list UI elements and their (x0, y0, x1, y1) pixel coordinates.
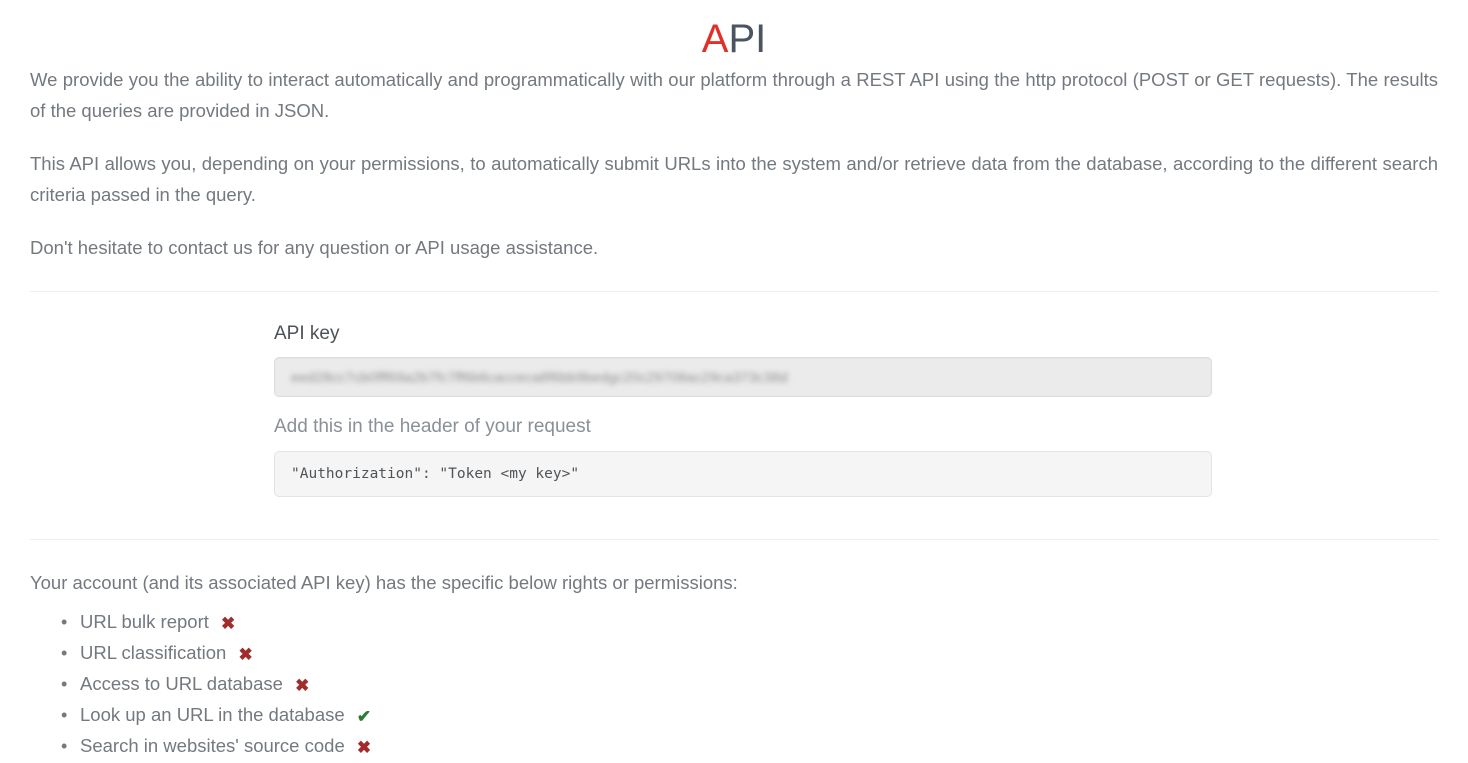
cross-icon: ✖ (238, 640, 252, 670)
permission-label: Access to URL database (80, 673, 283, 694)
bullet-icon: • (61, 700, 67, 730)
page-title: API (0, 0, 1468, 64)
section-divider-bottom (30, 539, 1438, 540)
api-key-section: API key eed28cc7cb0fff69a2b7fc7ff6b6cacc… (0, 292, 1468, 497)
permission-label: Search in websites' source code (80, 735, 345, 756)
authorization-header-code: "Authorization": "Token <my key>" (291, 466, 579, 482)
authorization-header-code-block[interactable]: "Authorization": "Token <my key>" (274, 451, 1212, 497)
permissions-list: • URL bulk report ✖ • URL classification… (30, 607, 1438, 762)
page-title-rest: PI (728, 17, 766, 61)
list-item: • URL bulk report ✖ (80, 607, 1438, 638)
bullet-icon: • (61, 607, 67, 637)
intro-paragraph-1: We provide you the ability to interact a… (30, 64, 1438, 126)
intro-section: We provide you the ability to interact a… (0, 64, 1468, 263)
intro-paragraph-3: Don't hesitate to contact us for any que… (30, 232, 1438, 263)
list-item: • URL classification ✖ (80, 638, 1438, 669)
bullet-icon: • (61, 638, 67, 668)
list-item: • Look up an URL in the database ✔ (80, 700, 1438, 731)
permission-label: Look up an URL in the database (80, 704, 345, 725)
cross-icon: ✖ (295, 671, 309, 701)
api-page: API We provide you the ability to intera… (0, 0, 1468, 759)
api-key-helper-text: Add this in the header of your request (274, 414, 1212, 440)
check-icon: ✔ (357, 702, 371, 732)
bullet-icon: • (61, 669, 67, 699)
api-key-value: eed28cc7cb0fff69a2b7fc7ff6b6cacceca8f6bb… (291, 369, 788, 385)
bullet-icon: • (61, 731, 67, 761)
api-key-input[interactable]: eed28cc7cb0fff69a2b7fc7ff6b6cacceca8f6bb… (274, 357, 1212, 397)
api-key-label: API key (274, 321, 1212, 347)
permission-label: URL bulk report (80, 611, 209, 632)
list-item: • Search in websites' source code ✖ (80, 731, 1438, 762)
permission-label: URL classification (80, 642, 226, 663)
intro-paragraph-2: This API allows you, depending on your p… (30, 148, 1438, 210)
cross-icon: ✖ (221, 609, 235, 639)
page-title-accent: A (702, 17, 729, 61)
permissions-section: Your account (and its associated API key… (0, 567, 1468, 762)
permissions-intro: Your account (and its associated API key… (30, 567, 1438, 598)
list-item: • Access to URL database ✖ (80, 669, 1438, 700)
